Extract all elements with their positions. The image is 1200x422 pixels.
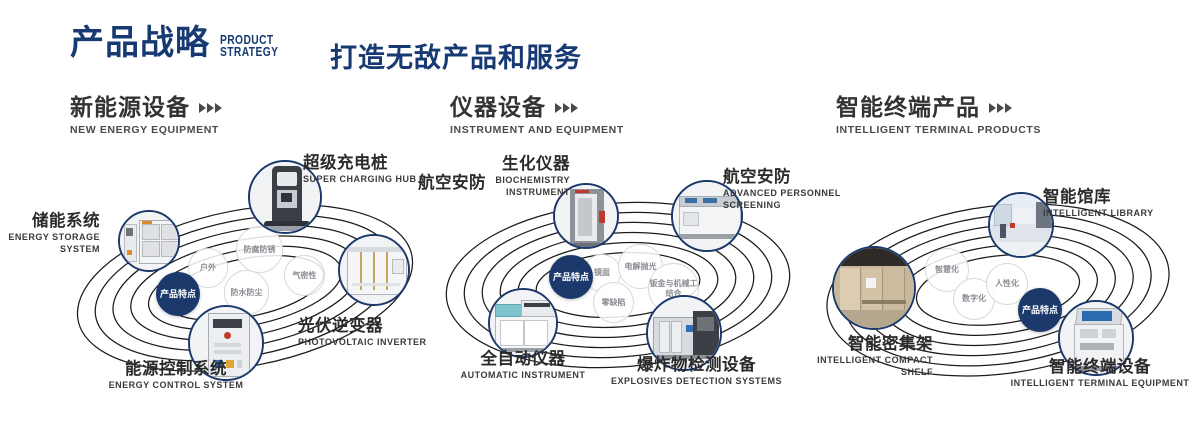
chevron-right-icon <box>989 103 1012 113</box>
section-title-intelligent-terminal: 智能终端产品 INTELLIGENT TERMINAL PRODUCTS <box>836 96 1041 136</box>
item-label-biochemistry-instrument: 生化仪器 BIOCHEMISTRY INSTRUMENT <box>438 155 570 198</box>
item-label-en: EXPLOSIVES DETECTION SYSTEMS <box>599 376 794 387</box>
product-bubble-intelligent-compact-shelf[interactable] <box>832 246 916 330</box>
item-label-en: INTELLIGENT LIBRARY <box>1043 208 1193 219</box>
feature-bubble: 气密性 <box>284 255 325 296</box>
page-title-en-line2: STRATEGY <box>220 46 278 59</box>
feature-label: 气密性 <box>293 271 317 280</box>
page-title: 产品战略 PRODUCT STRATEGY <box>70 26 291 60</box>
product-bubble-energy-storage[interactable] <box>118 210 180 272</box>
feature-label: 防腐防锈 <box>244 245 276 254</box>
item-label-cn: 全自动仪器 <box>438 350 608 368</box>
section-title-cn: 仪器设备 <box>450 96 546 119</box>
section-title-cn: 新能源设备 <box>70 96 190 119</box>
cluster-intelligent-terminal-products: 智慧化 数字化 人性化 产品特点 <box>800 160 1200 410</box>
page-slogan: 打造无敌产品和服务 <box>330 36 582 75</box>
feature-label: 智慧化 <box>935 265 959 274</box>
item-label-cn: 生化仪器 <box>438 155 570 173</box>
item-label-en: INTELLIGENT COMPACT SHELF <box>788 355 933 378</box>
core-label: 产品特点 <box>553 272 589 282</box>
feature-bubble: 零缺陷 <box>593 282 634 323</box>
photovoltaic-inverter-photo <box>340 236 408 304</box>
item-label-en: INTELLIGENT TERMINAL EQUIPMENT <box>1005 378 1195 389</box>
page-title-cn: 产品战略 <box>70 26 210 60</box>
section-title-en: INTELLIGENT TERMINAL PRODUCTS <box>836 124 1041 136</box>
item-label-cn: 智能密集架 <box>788 335 933 353</box>
item-label-intelligent-library: 智能馆库 INTELLIGENT LIBRARY <box>1043 188 1193 220</box>
feature-label: 户外 <box>200 263 216 272</box>
product-bubble-automatic-instrument[interactable] <box>488 288 558 358</box>
item-label-cn: 能源控制系统 <box>76 360 276 378</box>
chevron-right-icon <box>555 103 578 113</box>
automatic-instrument-photo <box>490 290 556 356</box>
item-label-cn: 智能终端设备 <box>1005 358 1195 376</box>
feature-label: 镜面 <box>594 268 610 277</box>
item-label-en: BIOCHEMISTRY INSTRUMENT <box>438 175 570 198</box>
item-label-explosives-detection-systems: 爆炸物检测设备 EXPLOSIVES DETECTION SYSTEMS <box>599 356 794 388</box>
item-label-cn: 爆炸物检测设备 <box>599 356 794 374</box>
cluster-instrument-and-equipment: 镜面 电解抛光 钣金与机械工结合 零缺陷 产品特点 <box>418 160 818 410</box>
chevron-right-icon <box>199 103 222 113</box>
product-strategy-infographic: 产品战略 PRODUCT STRATEGY 打造无敌产品和服务 新能源设备 NE… <box>0 0 1200 422</box>
item-label-automatic-instrument: 全自动仪器 AUTOMATIC INSTRUMENT <box>438 350 608 382</box>
item-label-cn: 储能系统 <box>0 212 100 230</box>
section-title-new-energy: 新能源设备 NEW ENERGY EQUIPMENT <box>70 96 222 136</box>
feature-label: 数字化 <box>962 294 986 303</box>
item-label-energy-storage-system: 储能系统 ENERGY STORAGE SYSTEM <box>0 212 100 255</box>
item-label-intelligent-terminal-equipment: 智能终端设备 INTELLIGENT TERMINAL EQUIPMENT <box>1005 358 1195 390</box>
core-label: 产品特点 <box>160 289 196 299</box>
item-label-energy-control-system: 能源控制系统 ENERGY CONTROL SYSTEM <box>76 360 276 392</box>
energy-storage-photo <box>120 212 178 270</box>
feature-label: 人性化 <box>995 279 1019 288</box>
section-title-instrument: 仪器设备 INSTRUMENT AND EQUIPMENT <box>450 96 624 136</box>
item-label-cn: 智能馆库 <box>1043 188 1193 206</box>
feature-label: 防水防尘 <box>231 288 263 297</box>
page-title-en: PRODUCT STRATEGY <box>220 34 278 60</box>
section-title-cn: 智能终端产品 <box>836 96 980 119</box>
item-label-en: ENERGY STORAGE SYSTEM <box>0 232 100 255</box>
product-bubble-photovoltaic-inverter[interactable] <box>338 234 410 306</box>
item-label-en: AUTOMATIC INSTRUMENT <box>438 370 608 381</box>
section-title-en: INSTRUMENT AND EQUIPMENT <box>450 124 624 136</box>
cluster-new-energy-equipment: 户外 防腐防锈 防水防尘 气密性 产品特点 <box>40 160 440 410</box>
core-label: 产品特点 <box>1022 305 1058 315</box>
page-title-en-line1: PRODUCT <box>220 34 278 47</box>
compact-shelf-photo <box>834 248 914 328</box>
core-bubble: 产品特点 <box>1018 288 1062 332</box>
section-title-en: NEW ENERGY EQUIPMENT <box>70 124 222 136</box>
feature-label: 电解抛光 <box>625 262 657 271</box>
item-label-intelligent-compact-shelf: 智能密集架 INTELLIGENT COMPACT SHELF <box>788 335 933 378</box>
item-label-en: ENERGY CONTROL SYSTEM <box>76 380 276 391</box>
feature-label: 零缺陷 <box>602 298 626 307</box>
